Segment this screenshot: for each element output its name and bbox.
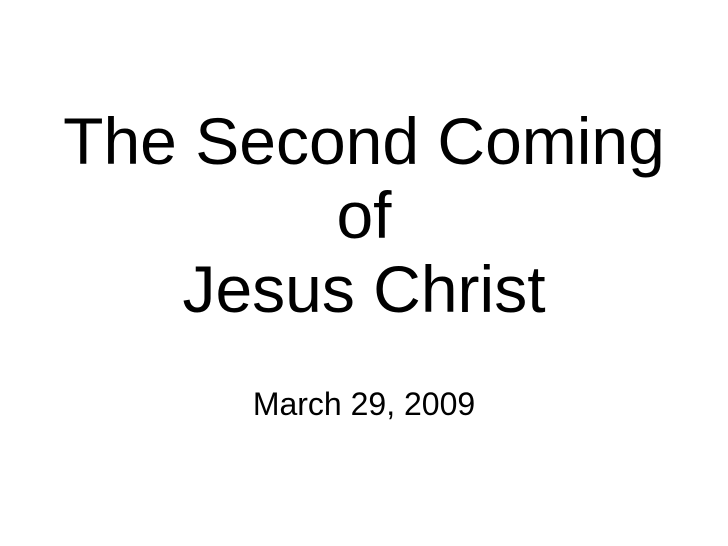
- slide-title: The Second Coming of Jesus Christ: [0, 104, 728, 326]
- title-line-3: Jesus Christ: [0, 252, 728, 326]
- title-line-1: The Second Coming: [0, 104, 728, 178]
- presentation-slide: The Second Coming of Jesus Christ March …: [0, 0, 728, 546]
- slide-subtitle: March 29, 2009: [0, 385, 728, 423]
- subtitle-date: March 29, 2009: [0, 385, 728, 423]
- title-line-2: of: [0, 178, 728, 252]
